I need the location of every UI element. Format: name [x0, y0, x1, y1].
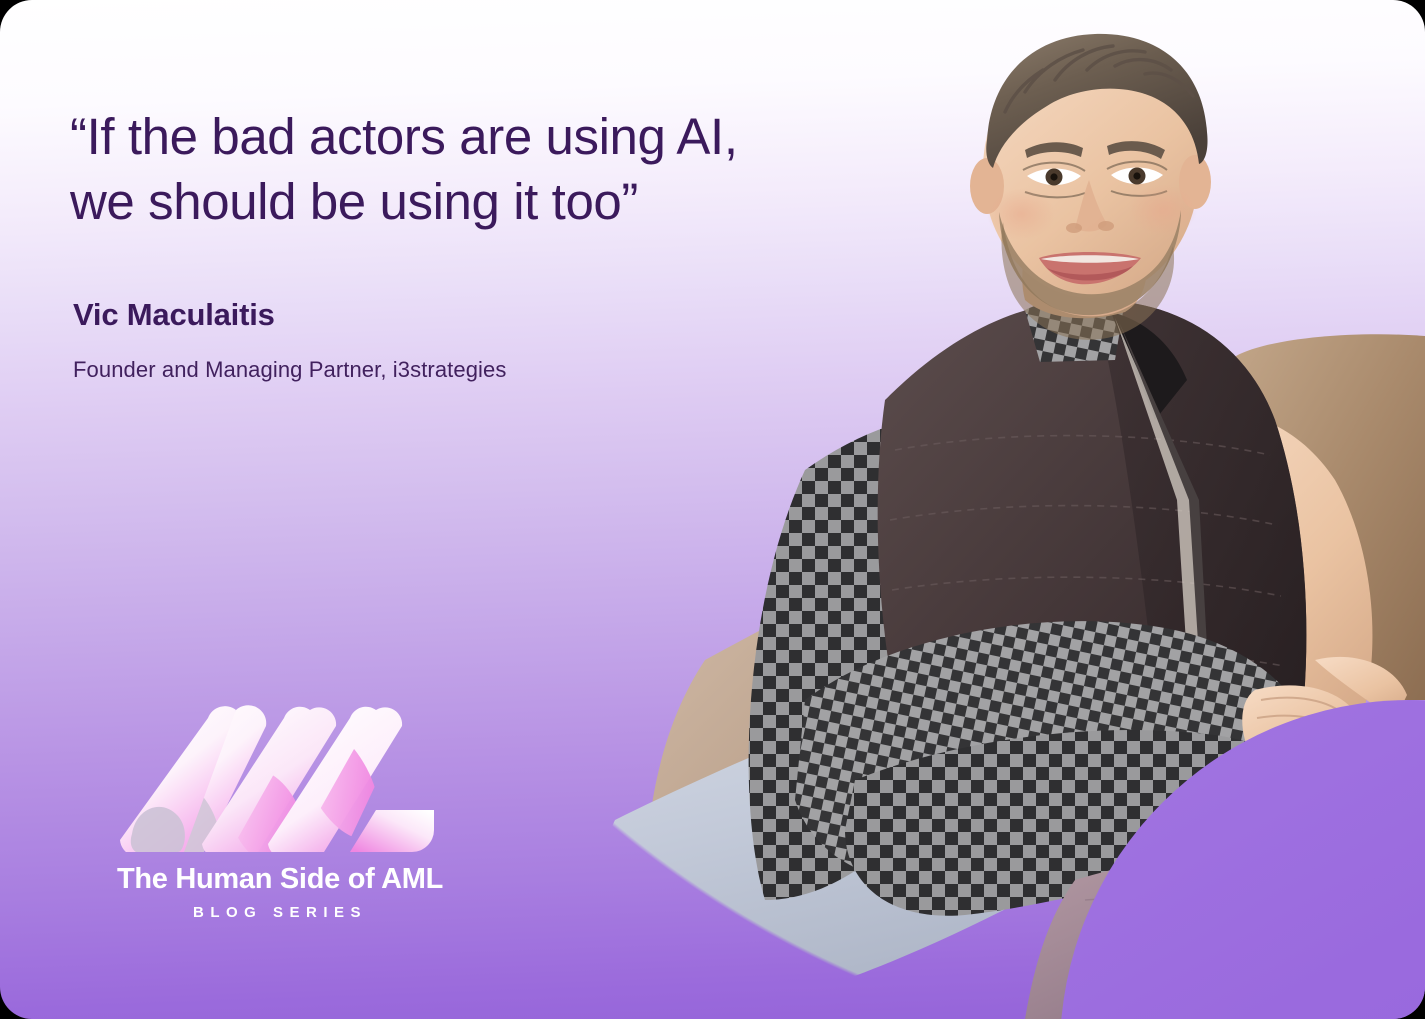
speaker-name: Vic Maculaitis: [73, 297, 275, 333]
logo-subtitle: BLOG SERIES: [70, 904, 490, 921]
pull-quote: “If the bad actors are using AI, we shou…: [70, 104, 900, 235]
quote-card: “If the bad actors are using AI, we shou…: [0, 0, 1425, 1019]
human-side-of-aml-m-mark: [118, 700, 438, 852]
speaker-role: Founder and Managing Partner, i3strategi…: [73, 357, 506, 383]
logo-title: The Human Side of AML: [70, 863, 490, 896]
blog-series-logo: The Human Side of AML BLOG SERIES: [70, 700, 490, 940]
